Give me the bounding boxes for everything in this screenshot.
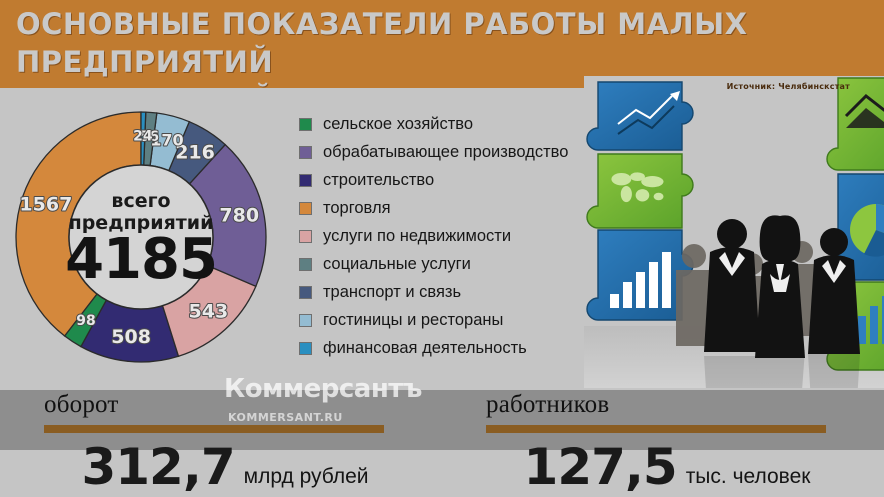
legend-swatch-icon xyxy=(299,314,312,327)
watermark-url: KOMMERSANT.RU xyxy=(228,411,343,424)
legend-item[interactable]: услуги по недвижимости xyxy=(299,222,599,250)
legend-item[interactable]: обрабатывающее производство xyxy=(299,138,599,166)
metric-unit: млрд рублей xyxy=(244,466,369,487)
chart-legend: сельское хозяйствообрабатывающее произво… xyxy=(299,110,599,362)
legend-swatch-icon xyxy=(299,230,312,243)
donut-slice-label: 24 xyxy=(133,129,153,145)
legend-item[interactable]: строительство xyxy=(299,166,599,194)
legend-swatch-icon xyxy=(299,202,312,215)
legend-item-label: социальные услуги xyxy=(323,255,471,274)
infographic-root: ОСНОВНЫЕ ПОКАЗАТЕЛИ РАБОТЫ МАЛЫХ ПРЕДПРИ… xyxy=(0,0,884,497)
legend-swatch-icon xyxy=(299,118,312,131)
metric-value-row: 127,5 тыс. человек xyxy=(442,442,884,492)
metric-value: 312,7 xyxy=(81,442,234,492)
metric-bar xyxy=(44,425,384,433)
puzzle-people-illustration xyxy=(584,76,884,388)
metric-value-row: 312,7 млрд рублей xyxy=(0,442,442,492)
watermark-brand: Коммерсантъ xyxy=(224,374,422,404)
legend-swatch-icon xyxy=(299,146,312,159)
donut-chart: 1567985085437802161705624 всего предприя… xyxy=(12,108,270,366)
legend-item-label: услуги по недвижимости xyxy=(323,227,511,246)
metric-unit: тыс. человек xyxy=(686,466,811,487)
legend-swatch-icon xyxy=(299,342,312,355)
donut-slice-label: 98 xyxy=(76,313,95,329)
legend-item-label: гостиницы и рестораны xyxy=(323,311,503,330)
donut-slice-label: 508 xyxy=(111,326,151,348)
legend-item-label: обрабатывающее производство xyxy=(323,143,568,162)
metric-bar xyxy=(486,425,826,433)
legend-swatch-icon xyxy=(299,286,312,299)
legend-item[interactable]: торговля xyxy=(299,194,599,222)
legend-item[interactable]: финансовая деятельность xyxy=(299,334,599,362)
legend-item[interactable]: транспорт и связь xyxy=(299,278,599,306)
legend-item-label: транспорт и связь xyxy=(323,283,461,302)
metric-label: работников xyxy=(486,391,609,419)
legend-item[interactable]: социальные услуги xyxy=(299,250,599,278)
legend-item-label: торговля xyxy=(323,199,391,218)
donut-slice-label: 780 xyxy=(219,205,259,227)
metric-label: оборот xyxy=(44,391,119,419)
legend-swatch-icon xyxy=(299,258,312,271)
metric-employees: работников 127,5 тыс. человек xyxy=(442,390,884,497)
legend-item-label: строительство xyxy=(323,171,434,190)
legend-swatch-icon xyxy=(299,174,312,187)
donut-slice-label: 543 xyxy=(189,301,229,323)
source-note: Источник: Челябинскстат xyxy=(727,82,850,91)
header-banner: ОСНОВНЫЕ ПОКАЗАТЕЛИ РАБОТЫ МАЛЫХ ПРЕДПРИ… xyxy=(0,0,884,88)
legend-item-label: сельское хозяйство xyxy=(323,115,473,134)
legend-item[interactable]: сельское хозяйство xyxy=(299,110,599,138)
donut-slice-label: 1567 xyxy=(19,194,72,216)
legend-item[interactable]: гостиницы и рестораны xyxy=(299,306,599,334)
metric-value: 127,5 xyxy=(524,442,677,492)
metric-turnover: оборот 312,7 млрд рублей xyxy=(0,390,442,497)
legend-item-label: финансовая деятельность xyxy=(323,339,527,358)
